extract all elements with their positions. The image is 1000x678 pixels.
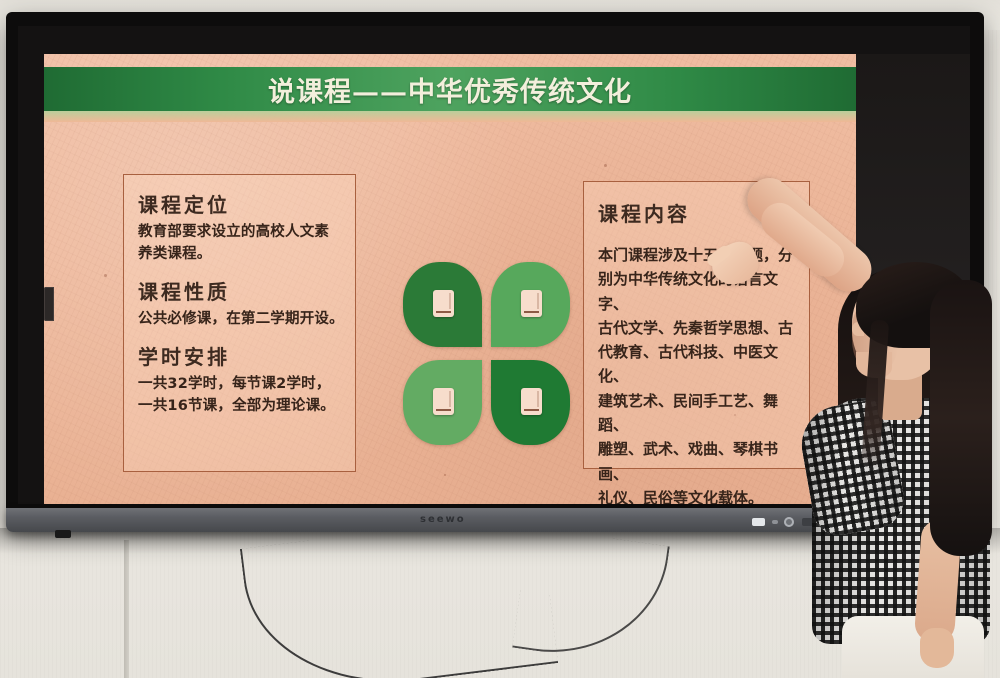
presenter-hair-side [930,280,992,556]
presenter-right-hand [920,628,954,668]
presenter-pants [842,616,984,678]
classroom-scene: 说课程——中华优秀传统文化 课程定位 教育部要求设立的高校人文素 养类课程。 课… [0,0,1000,678]
presenter [0,0,1000,678]
